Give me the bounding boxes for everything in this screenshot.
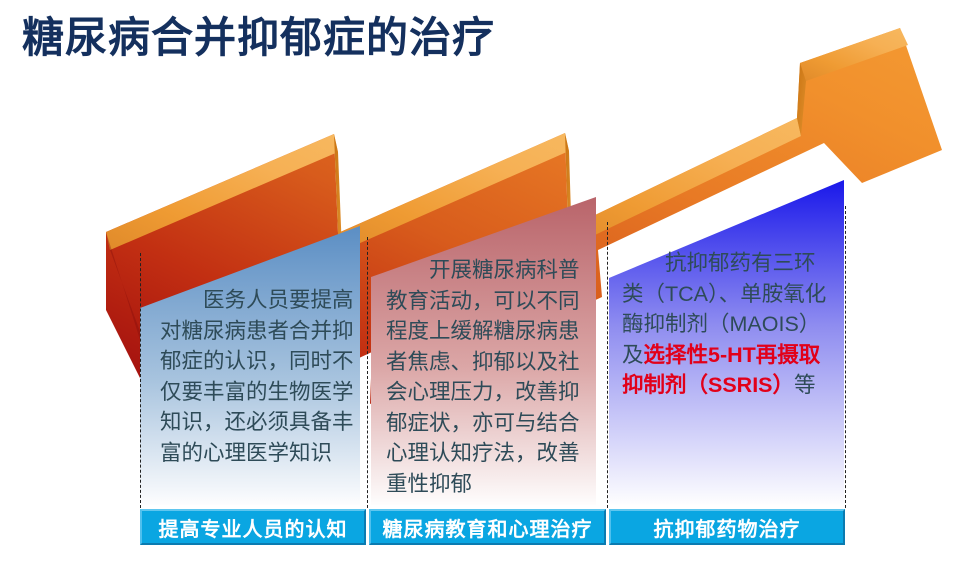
label-bar-awareness[interactable]: 提高专业人员的认知 [140,509,366,545]
panel-medication-text-highlight: 选择性5-HT再摄取抑制剂（SSRIS） [622,343,820,398]
divider-right [845,206,846,508]
page-title: 糖尿病合并抑郁症的治疗 [22,14,495,62]
label-bar-medication[interactable]: 抗抑郁药物治疗 [609,509,845,545]
panel-medication-text: 抗抑郁药有三环类（TCA）、单胺氧化酶抑制剂（MAOIS）及选择性5-HT再摄取… [622,248,832,401]
divider-1-2 [367,237,368,508]
panel-awareness-text: 医务人员要提高对糖尿病患者合并抑郁症的认识，同时不仅要丰富的生物医学知识，还必须… [160,285,356,468]
panel-medication-text-tail: 等 [794,373,816,397]
divider-2-3 [607,222,608,508]
panel-education-text: 开展糖尿病科普教育活动，可以不同程度上缓解糖尿病患者焦虑、抑郁以及社会心理压力，… [386,255,591,499]
label-bar-education[interactable]: 糖尿病教育和心理治疗 [369,509,606,545]
divider-left [140,253,141,508]
slide-canvas: 糖尿病合并抑郁症的治疗 [0,0,961,570]
